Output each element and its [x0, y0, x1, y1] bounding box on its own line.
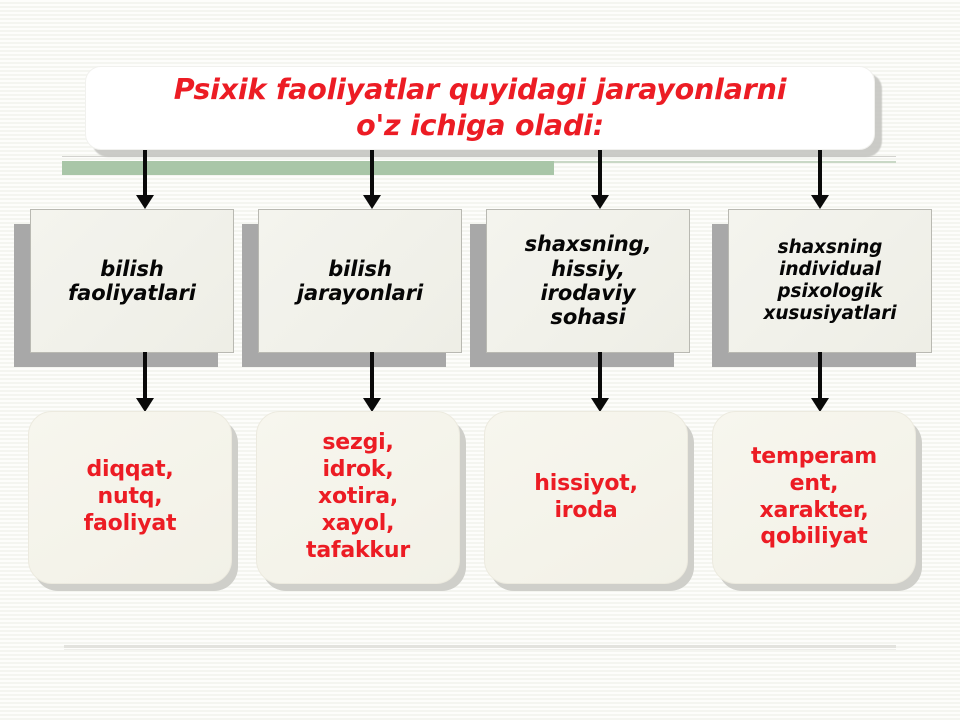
category-box-4-label: shaxsning individual psixologik xususiya…: [763, 237, 896, 326]
detail-box-3[interactable]: hissiyot, iroda: [484, 411, 688, 584]
slide-canvas: Psixik faoliyatlar quyidagi jarayonlarni…: [0, 0, 960, 720]
category-box-2[interactable]: bilish jarayonlari: [258, 209, 462, 353]
detail-box-2[interactable]: sezgi, idrok, xotira, xayol, tafakkur: [256, 411, 460, 584]
arrow-category-4-to-detail-4: [810, 352, 830, 412]
detail-box-1-label: diqqat, nutq, faoliyat: [84, 457, 177, 537]
category-box-1[interactable]: bilish faoliyatlari: [30, 209, 234, 353]
arrow-title-to-category-2: [362, 150, 382, 209]
arrow-title-to-category-3: [590, 150, 610, 209]
arrow-title-to-category-1: [135, 150, 155, 209]
arrow-category-3-to-detail-3: [590, 352, 610, 412]
arrow-title-to-category-4: [810, 150, 830, 209]
category-box-2-label: bilish jarayonlari: [297, 257, 423, 306]
arrow-category-1-to-detail-1: [135, 352, 155, 412]
category-box-1-label: bilish faoliyatlari: [68, 257, 196, 306]
category-box-3-label: shaxsning, hissiy, irodaviy sohasi: [525, 232, 652, 329]
category-box-3[interactable]: shaxsning, hissiy, irodaviy sohasi: [486, 209, 690, 353]
detail-box-4-label: temperam ent, xarakter, qobiliyat: [751, 444, 877, 551]
detail-box-2-label: sezgi, idrok, xotira, xayol, tafakkur: [306, 430, 410, 564]
detail-box-1[interactable]: diqqat, nutq, faoliyat: [28, 411, 232, 584]
detail-box-3-label: hissiyot, iroda: [534, 471, 637, 525]
page-title: Psixik faoliyatlar quyidagi jarayonlarni…: [174, 72, 787, 145]
bottom-divider-rule-secondary: [64, 649, 896, 650]
category-box-4[interactable]: shaxsning individual psixologik xususiya…: [728, 209, 932, 353]
detail-box-4[interactable]: temperam ent, xarakter, qobiliyat: [712, 411, 916, 584]
bottom-divider-rule: [64, 645, 896, 648]
title-box: Psixik faoliyatlar quyidagi jarayonlarni…: [85, 66, 875, 150]
arrow-category-2-to-detail-2: [362, 352, 382, 412]
